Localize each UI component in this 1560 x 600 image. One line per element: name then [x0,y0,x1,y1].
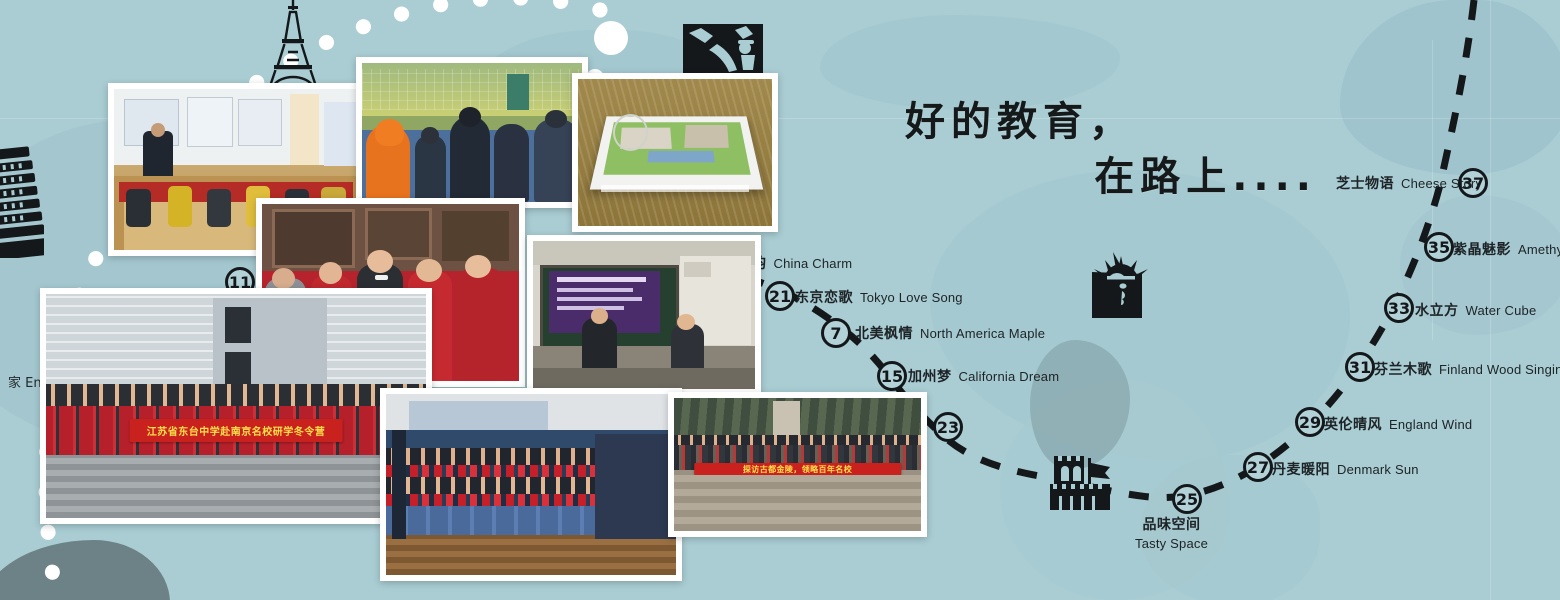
route-stop-label-21: 东京恋歌Tokyo Love Song [795,287,963,307]
stop-label-en: China Charm [774,256,853,271]
castle-fortress-icon [1050,452,1128,510]
stop-label-cn: 紫晶魅影 [1453,239,1511,259]
stop-label-cn: 北美枫情 [855,323,913,343]
outdoor-students-photo [356,57,588,208]
route-marker-27[interactable]: 27 [1243,452,1273,482]
stop-label-en: Finland Wood Singing [1439,362,1560,377]
route-marker-25[interactable]: 25 [1172,484,1202,514]
stop-label-en: Cheese Story [1401,176,1482,191]
route-extra-label: 韵China Charm [752,253,852,273]
edge-clipped-label: 家 En [8,372,42,391]
statue-of-liberty-icon [1082,250,1160,318]
stop-label-en: North America Maple [920,326,1045,341]
stop-label-en: Amethyst Ch [1518,242,1560,257]
stop-label-cn: 品味空间 [1143,517,1201,533]
memorial-group-photo: 探访古都金陵，领略百年名校 [668,392,927,537]
mountain-climber-icon [683,24,763,76]
stop-label-cn: 芬兰木歌 [1374,359,1432,379]
route-marker-23[interactable]: 23 [933,412,963,442]
route-marker-31[interactable]: 31 [1345,352,1375,382]
stop-label-en: Tokyo Love Song [860,290,963,305]
map-landmass [0,540,170,600]
school-group-steps-photo: 江苏省东台中学赴南京名校研学冬令营 [40,288,432,524]
stop-label-cn: 水立方 [1415,300,1459,320]
page-title: 好的教育， 在路上.... [905,95,1325,205]
route-stop-label-29: 英伦晴风England Wind [1324,414,1472,434]
stop-label-cn: 加州梦 [908,366,952,386]
campus-model-photo [572,73,778,232]
photo-banner-text: 江苏省东台中学赴南京名校研学冬令营 [130,419,343,441]
stop-label-en: Tasty Space [1135,535,1208,553]
map-landmass [1340,0,1560,175]
stop-label-cn: 丹麦暖阳 [1272,459,1330,479]
stop-label-en: Water Cube [1466,303,1537,318]
title-line-1: 好的教育， [905,95,1325,150]
route-marker-29[interactable]: 29 [1295,407,1325,437]
route-marker-21[interactable]: 21 [765,281,795,311]
route-stop-label-15: 加州梦California Dream [908,366,1059,386]
poster-canvas: 1121东京恋歌Tokyo Love Song7北美枫情North Americ… [0,0,1560,600]
stop-label-cn: 芝士物语 [1336,173,1394,193]
leaning-tower-of-pisa-icon [0,138,44,258]
route-marker-7[interactable]: 7 [821,318,851,348]
route-marker-15[interactable]: 15 [877,361,907,391]
photo-banner-text: 探访古都金陵，领略百年名校 [694,463,901,475]
route-stop-label-27: 丹麦暖阳Denmark Sun [1272,459,1419,479]
route-marker-35[interactable]: 35 [1424,232,1454,262]
route-stop-label-25: 品味空间Tasty Space [1135,516,1208,552]
stop-label-en: California Dream [959,369,1060,384]
stop-label-cn: 东京恋歌 [795,287,853,307]
lecture-hall-speaker-photo [527,235,761,395]
route-stop-label-33: 水立方Water Cube [1415,300,1536,320]
stop-label-en: England Wind [1389,417,1472,432]
stop-label-en: Denmark Sun [1337,462,1419,477]
auditorium-audience-photo [380,388,682,581]
route-stop-label-7: 北美枫情North America Maple [855,323,1045,343]
route-marker-33[interactable]: 33 [1384,293,1414,323]
route-stop-label-35: 紫晶魅影Amethyst Ch [1453,239,1560,259]
stop-label-cn: 英伦晴风 [1324,414,1382,434]
route-stop-label-37: 芝士物语Cheese Story [1336,173,1482,193]
title-line-2: 在路上.... [905,150,1325,205]
route-stop-label-31: 芬兰木歌Finland Wood Singing [1374,359,1560,379]
